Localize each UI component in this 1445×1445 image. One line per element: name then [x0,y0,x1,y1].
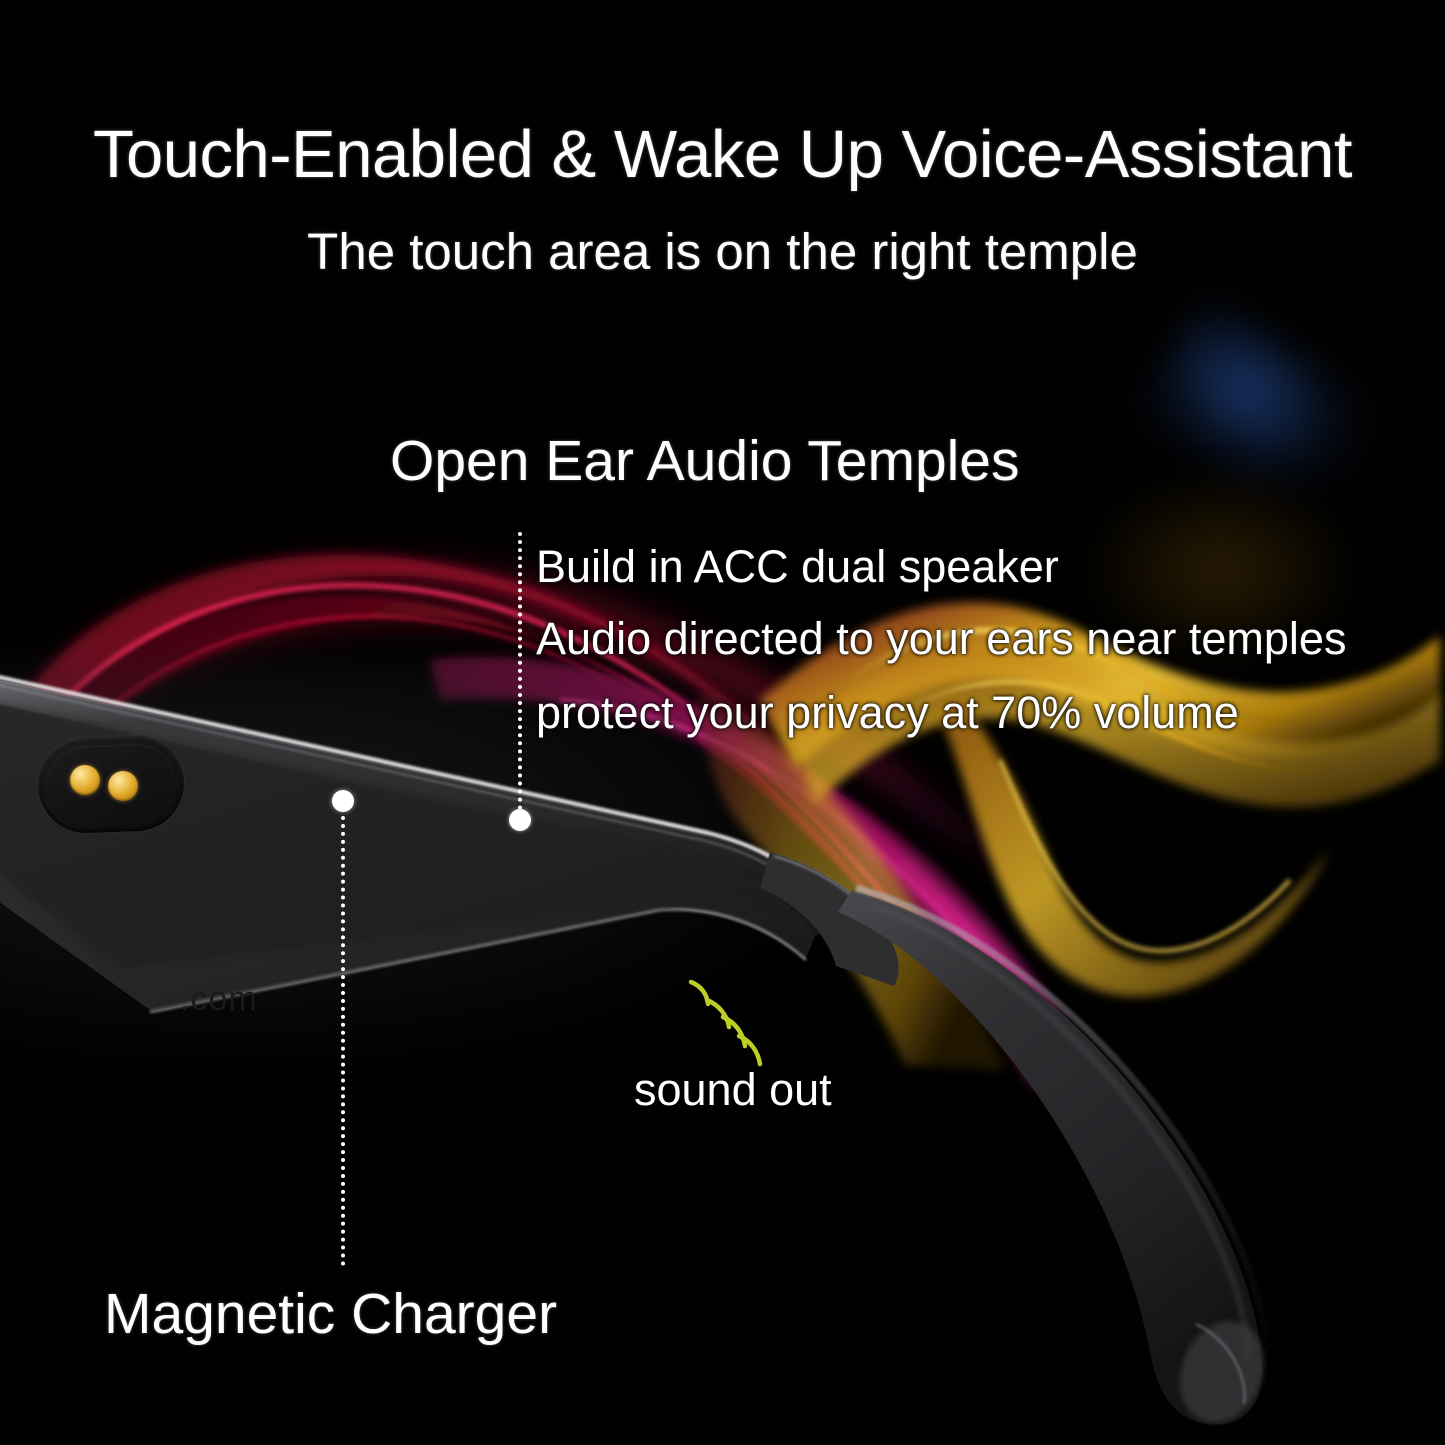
callout-line-audio [518,532,522,810]
audio-bullet-1: Build in ACC dual speaker [536,541,1059,593]
page-title: Touch-Enabled & Wake Up Voice-Assistant [93,116,1352,193]
callout-marker-dot-audio [509,809,531,831]
audio-section-title: Open Ear Audio Temples [390,428,1020,494]
callout-line-charger [341,816,345,1266]
callout-marker-dot-charger [332,790,354,812]
magnetic-charging-pins-icon [70,765,100,795]
magnetic-charging-pin-2-icon [108,771,138,801]
audio-bullet-3: protect your privacy at 70% volume [536,687,1239,739]
sound-wave-icon [665,960,805,1080]
product-infographic: Touch-Enabled & Wake Up Voice-Assistant … [0,0,1445,1445]
magnetic-charger-label: Magnetic Charger [104,1281,557,1347]
audio-bullet-2: Audio directed to your ears near temples [536,613,1346,665]
page-subtitle: The touch area is on the right temple [307,222,1138,281]
watermark: .com [180,980,258,1019]
sound-out-label: sound out [634,1064,832,1116]
